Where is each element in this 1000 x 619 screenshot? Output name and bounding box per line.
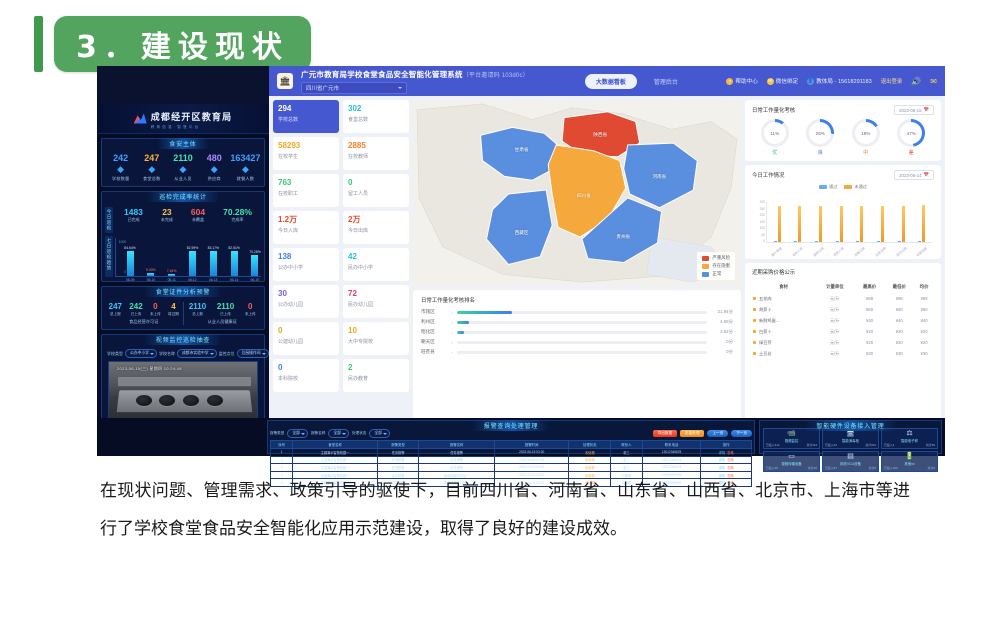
stat-label: 大中专院校 (348, 338, 404, 345)
help-center-link[interactable]: ? 帮助中心 (726, 77, 757, 85)
trend-bars: 84.64%9.00%7.44%82.99%83.17%82.51%70.28% (126, 244, 259, 276)
region-select[interactable]: 四川省广元市 (301, 82, 407, 94)
calendar-icon: 📅 (924, 172, 929, 178)
risk-map-card[interactable]: 甘肃省 陕西省 四川省 河南省 西藏区 贵州省 严重风险存在隐患正常 (413, 100, 741, 286)
price-cell: ¥88 (914, 293, 934, 304)
price-col-header: 最低价 (884, 281, 914, 293)
stat-card[interactable]: 58293在校学生 (273, 137, 339, 170)
inspection-panel: 巡检完成率统计 今日巡检 1483已完成23未完成604未覆盖70.28%完成率… (101, 191, 265, 282)
bar (815, 241, 818, 242)
x-tick: 食堂巡查 (915, 245, 928, 257)
stat-value: 2万 (348, 215, 404, 225)
stat-label: 今日出库 (348, 227, 404, 234)
price-cell: ¥30 (914, 348, 934, 359)
stat-card[interactable]: 10大中专院校 (343, 322, 409, 355)
dashboard-screenshot: 🏛 广元市教育局学校食堂食品安全智能化管理系统（平台邀请码 103d0c） 四川… (97, 66, 945, 456)
gauge-label: 优 (761, 149, 789, 156)
bottom-strip: 报警查询处理管理 报警类型 全部 报警名称 全部 处理状态 全部 导出数据 批量… (97, 418, 945, 456)
stat-card[interactable]: 2万今日出库 (343, 211, 409, 244)
inspection-stat: 70.28%完成率 (223, 207, 252, 223)
stat-card[interactable]: 763在校职工 (273, 174, 339, 207)
school-icon: ◆ (105, 164, 136, 175)
inspection-trend-label: 七日巡检趋势 (105, 236, 113, 277)
map-legend: 严重风险存在隐患正常 (697, 252, 735, 280)
ignore-link[interactable]: 忽略 (727, 466, 733, 470)
gauge-ring: 16% (852, 119, 880, 147)
alarm-col-header: 序号 (271, 441, 293, 449)
trend-x-axis: 06-0906-1006-1106-1206-1306-1406-15 (126, 278, 259, 282)
stat-label: 食堂总数 (348, 116, 404, 123)
user-icon: 👤 (807, 78, 814, 85)
stat-card[interactable]: 72民办幼儿园 (343, 285, 409, 318)
x-tick: 资质入库 (832, 245, 845, 257)
kpi-value: 242 (105, 153, 136, 164)
device-total: 共计20 (808, 466, 817, 470)
map-column: 甘肃省 陕西省 四川省 河南省 西藏区 贵州省 严重风险存在隐患正常 日常工作量… (413, 100, 741, 448)
alarm-filter-name[interactable]: 全部 (328, 429, 349, 438)
detail-link[interactable]: 详情 (719, 466, 725, 470)
trend-bar-col: 70.28% (251, 244, 259, 276)
bar-group (794, 202, 801, 242)
alarm-filter-status[interactable]: 全部 (369, 429, 390, 438)
stat-card[interactable]: 294学校总数 (273, 100, 339, 133)
device-card[interactable]: ⚖智能电子秤已接入4共计66 (881, 428, 938, 449)
price-col-header: 均价 (914, 281, 934, 293)
certificate-stat: 2110总上报 (189, 302, 206, 317)
legend-item: 严重风险 (702, 255, 730, 261)
ranking-value: 0分 (711, 339, 733, 345)
inspection-value: 70.28% (223, 207, 252, 217)
stat-card[interactable]: 1.2万今日入库 (273, 211, 339, 244)
kpi-label: 食堂总数 (136, 176, 167, 182)
ranking-track (457, 351, 707, 354)
map-label-shaanxi: 陕西省 (593, 132, 607, 138)
certificate-stat: 0未上传 (245, 302, 256, 317)
map-label-henan: 河南省 (652, 174, 666, 180)
ranking-name: 旺苍县 (421, 349, 447, 355)
alarm-cell: 2023-06-15 03:30 (494, 449, 569, 457)
logout-button[interactable]: 退出登录 (881, 77, 903, 85)
chart-legend: 通过未通过 (752, 184, 934, 190)
help-icon: ? (726, 78, 733, 85)
price-cell: ¥20 (884, 326, 914, 337)
stat-label: 留工人员 (348, 190, 404, 197)
y-tick: 200 (760, 213, 765, 217)
legend-item: 通过 (819, 184, 837, 190)
next-page-button[interactable]: 下一页 (731, 430, 752, 437)
tab-dashboard[interactable]: 大数据看板 (585, 74, 637, 89)
dark-logo: 成都经开区教育局 教 育 信 息 · 智 慧 平 台 (97, 104, 269, 134)
video-filter-select[interactable]: 公办中小学 (125, 349, 157, 358)
wok-icon (183, 395, 199, 406)
alarm-actions: 详情忽略 (701, 456, 752, 464)
diner-icon: ◆ (230, 164, 261, 175)
price-cell: ¥30 (884, 348, 914, 359)
emblem-icon: 🏛 (277, 73, 293, 89)
price-cell: 元/斤 (815, 348, 855, 359)
y-tick: 0 (763, 239, 765, 243)
ranking-value: 21.94分 (711, 309, 733, 315)
table-row: 白萝卜元/斤¥20¥20¥20 (752, 326, 934, 337)
kpi-label: 供应商 (199, 176, 230, 182)
stat-label: 民办教育 (348, 375, 404, 382)
tab-admin[interactable]: 管理后台 (643, 74, 689, 89)
chevron-right-icon: › (451, 350, 453, 355)
stat-card[interactable]: 302食堂总数 (343, 100, 409, 133)
bar (798, 206, 801, 242)
chevron-right-icon: › (451, 340, 453, 345)
stat-card[interactable]: 0本科院校 (273, 359, 339, 392)
alarm-cell: 张三 (611, 456, 643, 464)
gauge-ring: 47% (897, 119, 925, 147)
batch-process-button[interactable]: 批量处理 (680, 430, 704, 437)
video-filter-label: 学校类型 (107, 351, 123, 357)
alarm-col-header: 食堂名称 (293, 441, 378, 449)
stat-card-grid: 294学校总数302食堂总数58293在校学生2885在校教师763在校职工0留… (273, 100, 409, 448)
ranking-value: 3.52分 (711, 329, 733, 335)
stat-card[interactable]: 2民办教育 (343, 359, 409, 392)
page-title: 3．建设现状 (76, 22, 289, 66)
ranking-row: 朝天区›0分 (421, 339, 733, 345)
ranking-name: 市辖区 (421, 309, 447, 315)
alarm-col-header: 联系电话 (642, 441, 700, 449)
alarm-cell: 2023-06-15 03:30 (494, 464, 569, 472)
alarm-cell: 13012345678 (642, 449, 700, 457)
gauge-label: 中 (852, 149, 880, 156)
x-tick: 食材入库 (791, 245, 804, 257)
stat-value: 42 (348, 252, 404, 262)
alarm-col-header: 联系人 (611, 441, 643, 449)
bar (902, 206, 905, 242)
chart-title: 今日工作情况 (752, 171, 784, 179)
invite-code: （平台邀请码 103d0c） (463, 73, 529, 79)
price-cell: ¥40 (914, 315, 934, 326)
alarm-panel: 报警查询处理管理 报警类型 全部 报警名称 全部 处理状态 全部 导出数据 批量… (267, 420, 755, 454)
alarm-col-header: 操作 (701, 441, 752, 449)
heading-pill: 3．建设现状 (54, 16, 311, 72)
ranking-name: 朝天区 (421, 339, 447, 345)
camera-icon: 📹 (766, 430, 817, 438)
device-card[interactable]: ▤网关VCU设备已接入87共计8 (822, 451, 879, 472)
gauge: 26%良 (806, 119, 834, 156)
ranking-row: 昭化区›3.52分 (421, 329, 733, 335)
price-cell: ¥60 (884, 304, 914, 315)
ignore-link[interactable]: 忽略 (727, 458, 733, 462)
sterilizer-icon: 🖥 (825, 430, 876, 438)
ranking-fill (457, 331, 465, 334)
stat-card[interactable]: 0公建幼儿园 (273, 322, 339, 355)
alarm-cell: 任务报警 (419, 449, 495, 457)
video-filter-label: 监控点位 (219, 351, 235, 357)
bar (881, 206, 884, 242)
chart-date-picker[interactable]: 2023-06-14 📅 (894, 170, 934, 180)
table-row: 3主题演示智慧校园一任务报警任务报警2023-06-15 03:30未处理张三1… (271, 464, 752, 472)
bar-group (856, 202, 863, 242)
ignore-link[interactable]: 忽略 (727, 451, 733, 455)
slide-page: 3．建设现状 🏛 广元市教育局学校食堂食品安全智能化管理系统（平台邀请码 103… (0, 0, 1000, 619)
gauge-ring: 26% (806, 119, 834, 147)
bar-group (815, 202, 822, 242)
dark-logo-subtitle: 教 育 信 息 · 智 慧 平 台 (151, 125, 233, 130)
logo-mark-icon (134, 114, 147, 124)
inspection-stats: 1483已完成23未完成604未覆盖70.28%完成率 (115, 207, 261, 223)
price-cell: ¥40 (884, 315, 914, 326)
stat-value: 0 (278, 363, 334, 373)
device-counts: 已接入4共计66 (884, 443, 935, 447)
prev-page-button[interactable]: 上一页 (707, 430, 728, 437)
stat-label: 在校教师 (348, 153, 404, 160)
legend-label: 正常 (712, 271, 721, 277)
x-tick: 06-12 (188, 278, 196, 282)
heading-accent-bar (34, 16, 43, 72)
alarm-actions: 详情忽略 (701, 449, 752, 457)
bar (819, 206, 822, 242)
price-cell: 白萝卜 (752, 326, 815, 337)
stat-value: 302 (348, 104, 404, 114)
trend-bar (147, 273, 154, 276)
certificate-group-title: 从业人员健康证 (184, 319, 262, 325)
ranking-name: 昭化区 (421, 329, 447, 335)
video-filter-select[interactable]: 成都市实验中学 (177, 349, 217, 358)
stat-card[interactable]: 2885在校教师 (343, 137, 409, 170)
y-tick: 250 (760, 207, 765, 211)
dark-dashboard: 成都经开区教育局 教 育 信 息 · 智 慧 平 台 食安主体 242◆学校数量… (97, 104, 269, 418)
ranking-fill (457, 321, 470, 324)
supplier-icon: ◆ (199, 164, 230, 175)
trend-bar (251, 255, 258, 276)
stat-value: 294 (278, 104, 334, 114)
kpi-item: 242◆学校数量 (105, 153, 136, 182)
kpi-item: 2110◆从业人员 (167, 153, 198, 182)
detail-link[interactable]: 详情 (719, 451, 725, 455)
kpi-item: 163427◆就餐人数 (230, 153, 261, 182)
gauge-date-picker[interactable]: 2023-06-15 📅 (894, 105, 934, 115)
price-table-body: 五花肉元/斤¥88¥88¥88胡萝卜元/斤¥60¥60¥60新鲜鸡蛋…元/斤¥4… (752, 293, 934, 359)
trend-bar-label: 7.44% (167, 269, 177, 273)
certificate-stat: 0未上传 (150, 302, 161, 317)
certificate-stat: 2110已上传 (217, 302, 234, 317)
certificate-stat: 247总上报 (109, 302, 122, 317)
gauge-card: 日常工作量化考核 2023-06-15 📅 11%优26%良16%中47%差 (745, 100, 941, 161)
ranking-value: 4.58分 (711, 319, 733, 325)
stat-card[interactable]: 42民办中小学 (343, 248, 409, 281)
video-filter-select[interactable]: 后厨操作间 (237, 349, 269, 358)
alarm-filter-type[interactable]: 全部 (287, 429, 308, 438)
ranking-list: 市辖区›21.94分利州区›4.58分昭化区›3.52分朝天区›0分旺苍县›0分 (421, 309, 733, 355)
trend-bar-col: 82.51% (230, 244, 238, 276)
gauge-percent: 47% (900, 122, 922, 144)
device-connected: 已接入48 (766, 466, 778, 470)
price-table-header-row: 食材计量单位最高价最低价均价 (752, 281, 934, 293)
certificate-groups: 247总上报242已上传0未上传4将过期食品经营许可证2110总上报2110已上… (105, 302, 261, 325)
bar-chart: 300250200150100500 晨午检查食材入库留样记录资质入库消毒记录出… (752, 192, 934, 254)
y-tick: 50 (761, 233, 765, 237)
certificate-group-title: 食品经营许可证 (105, 319, 183, 325)
kpi-value: 480 (199, 153, 230, 164)
chart-y-axis: 300250200150100500 (752, 200, 765, 243)
inspection-stat: 23未完成 (161, 207, 173, 223)
gauge-card-title: 日常工作量化考核 (752, 106, 795, 114)
inspection-value: 23 (161, 207, 173, 217)
alarm-cell: 3 (271, 464, 293, 472)
inspection-label: 未覆盖 (191, 217, 205, 223)
y-tick: 100 (760, 226, 765, 230)
certificate-label: 未上传 (245, 312, 256, 317)
map-label-xizang: 西藏区 (515, 230, 529, 236)
alarm-cell: 未处理 (569, 456, 611, 464)
kpi-item: 247◆食堂总数 (136, 153, 167, 182)
alarm-cell: 13012345678 (642, 456, 700, 464)
trend-bar-label: 70.28% (249, 250, 261, 254)
certificate-label: 已上传 (129, 312, 142, 317)
certificate-panel-caption: 食堂证件分析预警 (144, 286, 222, 297)
header-title-block: 广元市教育局学校食堂食品安全智能化管理系统（平台邀请码 103d0c） 四川省广… (301, 69, 529, 94)
certificate-numbers: 2110总上报2110已上传0未上传 (184, 302, 262, 317)
today-work-chart-card: 今日工作情况 2023-06-14 📅 通过未通过 30025020015010… (745, 165, 941, 259)
alarm-cell: 任务报警 (377, 464, 419, 472)
legend-label: 通过 (829, 184, 837, 190)
bar-group (898, 202, 905, 242)
legend-label: 未通过 (854, 184, 867, 190)
other-device-icon: 🔋 (884, 453, 935, 461)
wechat-bind-link[interactable]: ✉ 微信绑定 (767, 77, 798, 85)
chevron-right-icon: › (451, 330, 453, 335)
inspection-label: 未完成 (161, 217, 173, 223)
stat-value: 2 (348, 363, 404, 373)
alarm-cell: 任务报警 (377, 456, 419, 464)
trend-bar-label: 9.00% (146, 268, 156, 272)
bar (856, 241, 859, 242)
certificate-numbers: 247总上报242已上传0未上传4将过期 (105, 302, 183, 317)
trend-bar-label: 83.17% (208, 246, 220, 250)
table-row: 新鲜鸡蛋…元/斤¥40¥40¥40 (752, 315, 934, 326)
alarm-cell: 张三 (611, 464, 643, 472)
table-row: 胡萝卜元/斤¥60¥60¥60 (752, 304, 934, 315)
device-connected: 已接入314 (766, 443, 780, 447)
chevron-right-icon: › (451, 320, 453, 325)
inspection-value: 1483 (124, 207, 143, 217)
legend-item: 正常 (702, 271, 730, 277)
table-row: 土豆丝元/斤¥30¥30¥30 (752, 348, 934, 359)
right-column: 日常工作量化考核 2023-06-15 📅 11%优26%良16%中47%差 今… (745, 100, 941, 448)
device-connected: 已接入180 (884, 466, 898, 470)
bar (778, 206, 781, 242)
device-card[interactable]: ▭视频传输设备已接入48共计20 (763, 451, 820, 472)
certificate-label: 总上报 (109, 312, 122, 317)
alarm-col-header: 报警时间 (494, 441, 569, 449)
map-label-guizhou: 贵州省 (616, 234, 630, 240)
certificate-value: 2110 (217, 302, 234, 312)
stat-card[interactable]: 0留工人员 (343, 174, 409, 207)
price-cell: 胡萝卜 (752, 304, 815, 315)
inspection-label: 完成率 (223, 217, 252, 223)
alarm-cell: 2 (271, 456, 293, 464)
canteen-icon: ◆ (136, 164, 167, 175)
stat-value: 763 (278, 178, 334, 188)
alarm-filter-label-type: 报警类型 (270, 431, 284, 436)
certificate-label: 将过期 (168, 312, 179, 317)
app-header: 🏛 广元市教育局学校食堂食品安全智能化管理系统（平台邀请码 103d0c） 四川… (269, 66, 945, 96)
stat-card[interactable]: 138公办中小学 (273, 248, 339, 281)
device-total: 共计301 (865, 443, 876, 447)
alarm-col-header: 处理状态 (569, 441, 611, 449)
wok-icon (136, 395, 152, 406)
device-card[interactable]: 🖥智能消毒柜已接入44共计301 (822, 428, 879, 449)
inspection-trend-row: 七日巡检趋势 10000 84.64%9.00%7.44%82.99%83.17… (105, 236, 261, 277)
price-cell: ¥20 (855, 326, 885, 337)
alarm-cell: 主题演示智慧校园一 (293, 456, 378, 464)
stat-card[interactable]: 30公办幼儿园 (273, 285, 339, 318)
x-tick: 消毒记录 (853, 245, 866, 257)
speaker-icon[interactable]: 🔊 (911, 77, 921, 86)
video-panel: 视频监控巡检抽查 学校类型公办中小学学校名称成都市实验中学监控点位后厨操作间 2… (101, 334, 265, 418)
certificate-value: 242 (129, 302, 142, 312)
kpi-value: 2110 (167, 153, 198, 164)
alarm-cell: 任务报警 (419, 464, 495, 472)
stat-value: 10 (348, 326, 404, 336)
price-col-header: 计量单位 (815, 281, 855, 293)
alarm-filter-label-name: 报警名称 (311, 431, 325, 436)
gauge-percent: 11% (764, 122, 786, 144)
device-total: 共计113 (807, 443, 817, 447)
chart-x-axis: 晨午检查食材入库留样记录资质入库消毒记录出库记录废弃记录食堂巡查 (766, 249, 932, 254)
wok-icon (159, 395, 175, 406)
legend-label: 存在隐患 (712, 263, 730, 269)
ranking-row: 利州区›4.58分 (421, 319, 733, 325)
x-tick: 06-15 (251, 278, 259, 282)
video-player[interactable]: 2023-06-15(三) 星期四 10:24:48 ❙❙ LIVE 🔊 ⛶ (108, 361, 258, 418)
alarm-cell: 任务报警 (377, 449, 419, 457)
device-counts: 已接入48共计20 (766, 466, 817, 470)
device-card[interactable]: 📹视频监控已接入314共计113 (763, 428, 820, 449)
ranking-row: 市辖区›21.94分 (421, 309, 733, 315)
kpi-label: 就餐人数 (230, 176, 261, 182)
stat-label: 公办中小学 (278, 264, 334, 271)
device-counts: 已接入180共计9 (884, 466, 935, 470)
price-cell: 元/斤 (815, 326, 855, 337)
alarm-cell: 任务报警 (419, 456, 495, 464)
ranking-track (457, 341, 707, 344)
gauge: 16%中 (852, 119, 880, 156)
table-row: 1主题演示智慧校园一任务报警任务报警2023-06-15 03:30未处理张三1… (271, 449, 752, 457)
kpi-value: 163427 (230, 153, 261, 164)
bar-group (877, 202, 884, 242)
price-cell: ¥40 (855, 315, 885, 326)
stat-value: 72 (348, 289, 404, 299)
inspection-today-row: 今日巡检 1483已完成23未完成604未覆盖70.28%完成率 (105, 207, 261, 233)
trend-bar-label: 84.64% (124, 246, 136, 250)
alarm-col-header: 报警名称 (419, 441, 495, 449)
alarm-filter-label-status: 处理状态 (352, 431, 366, 436)
user-account[interactable]: 👤 教体局 - 15618291183 (807, 77, 872, 85)
alarm-table-header-row: 序号食堂名称报警类型报警名称报警时间处理状态联系人联系电话操作 (271, 441, 752, 449)
device-card[interactable]: 🔋其他xx已接入180共计9 (881, 451, 938, 472)
stat-value: 1.2万 (278, 215, 334, 225)
trend-bar (168, 274, 175, 276)
stat-value: 30 (278, 289, 334, 299)
legend-swatch (702, 264, 709, 269)
export-button[interactable]: 导出数据 (653, 430, 677, 437)
certificate-value: 0 (150, 302, 161, 312)
detail-link[interactable]: 详情 (719, 458, 725, 462)
calendar-icon: 📅 (924, 107, 929, 113)
kpi-item: 480◆供应商 (199, 153, 230, 182)
table-row: 绿豆芽元/斤¥20¥20¥20 (752, 337, 934, 348)
trend-bar-label: 82.99% (187, 246, 199, 250)
certificate-value: 247 (109, 302, 122, 312)
message-icon[interactable]: ✉ (930, 77, 937, 86)
router-icon: ▭ (766, 453, 817, 461)
